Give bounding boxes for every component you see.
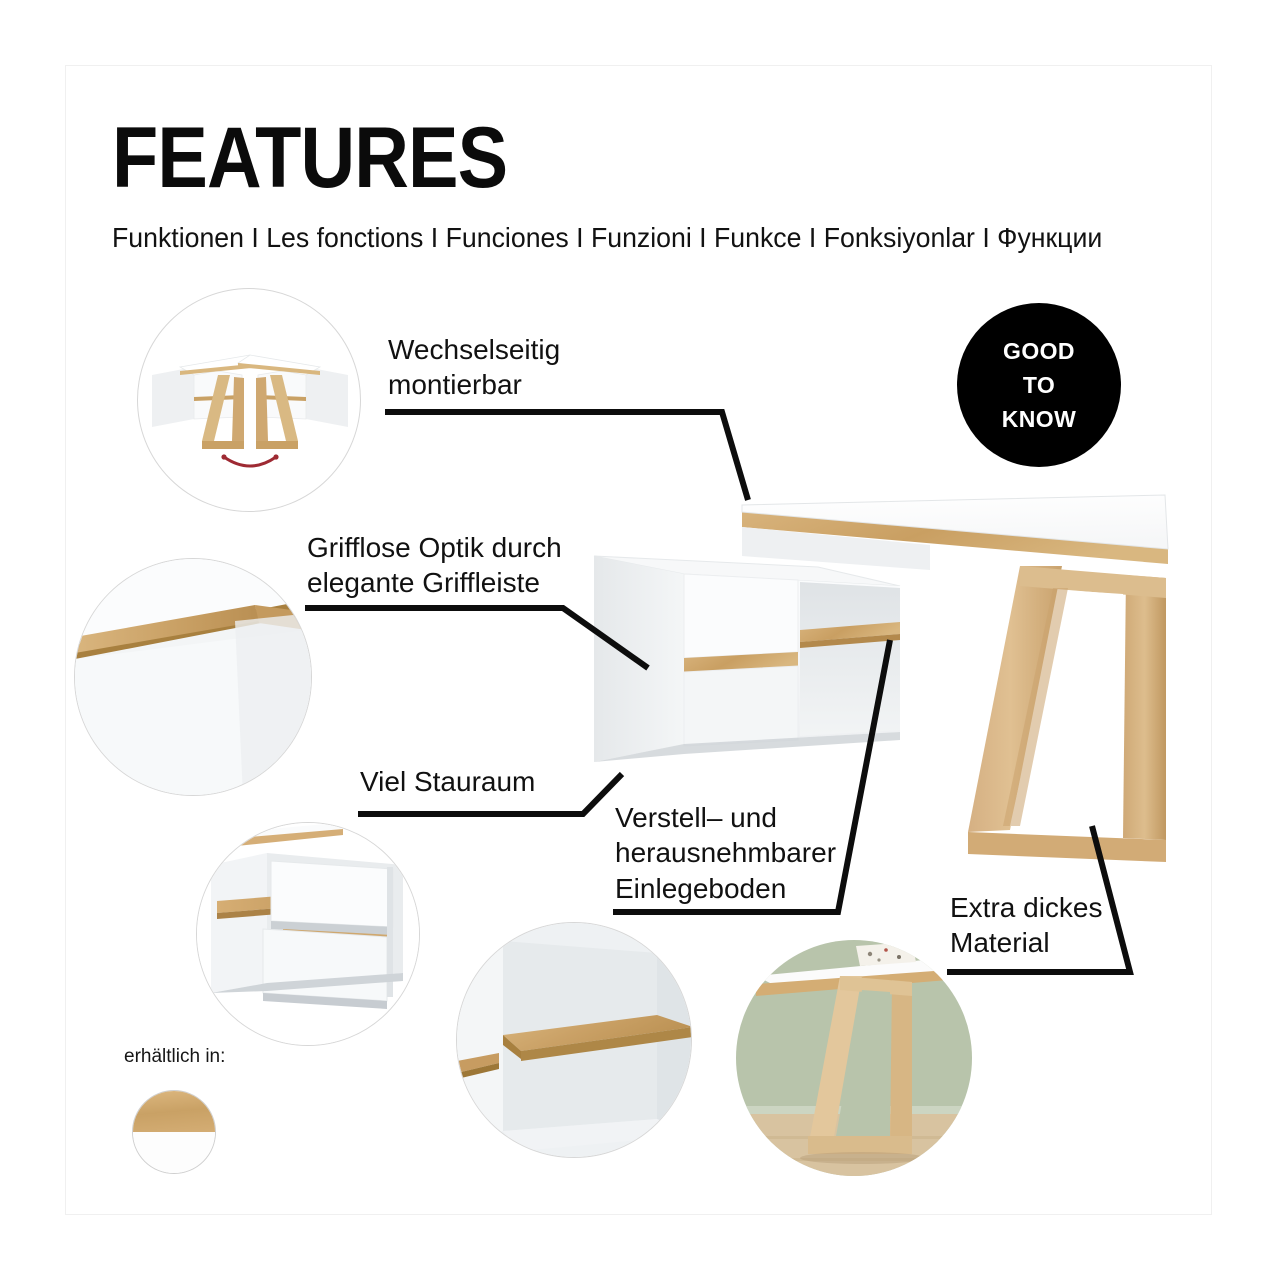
reversible-diagram bbox=[138, 289, 361, 512]
desk-leg-outer-right bbox=[1123, 575, 1166, 840]
shelf-photo bbox=[457, 923, 692, 1158]
detail-circle-reversible bbox=[137, 288, 361, 512]
detail-circle-shelf bbox=[456, 922, 692, 1158]
infographic-page: FEATURES Funktionen I Les fonctions I Fu… bbox=[0, 0, 1277, 1280]
material-lifestyle-photo bbox=[736, 940, 972, 1176]
callout-storage: Viel Stauraum bbox=[360, 764, 660, 799]
oak-white-swatch bbox=[132, 1090, 216, 1174]
availability-label: erhältlich in: bbox=[124, 1046, 225, 1068]
detail-circle-storage bbox=[196, 822, 420, 1046]
detail-circle-handle-strip bbox=[74, 558, 312, 796]
handle-strip-photo bbox=[75, 559, 312, 796]
swatch-white-half bbox=[133, 1132, 215, 1173]
detail-circle-material bbox=[736, 940, 972, 1176]
cabinet-drawer-upper bbox=[684, 574, 798, 658]
cabinet-open-cavity bbox=[800, 582, 900, 736]
callout-shelf: Verstell– und herausnehmbarer Einlegebod… bbox=[615, 800, 935, 906]
callout-handleless: Grifflose Optik durch elegante Griffleis… bbox=[307, 530, 637, 601]
swatch-oak-half bbox=[133, 1091, 215, 1132]
storage-photo bbox=[197, 823, 420, 1046]
callout-thick-material: Extra dickes Material bbox=[950, 890, 1230, 961]
callout-reversible: Wechselseitig montierbar bbox=[388, 332, 678, 403]
cabinet-drawer-lower bbox=[684, 666, 798, 746]
